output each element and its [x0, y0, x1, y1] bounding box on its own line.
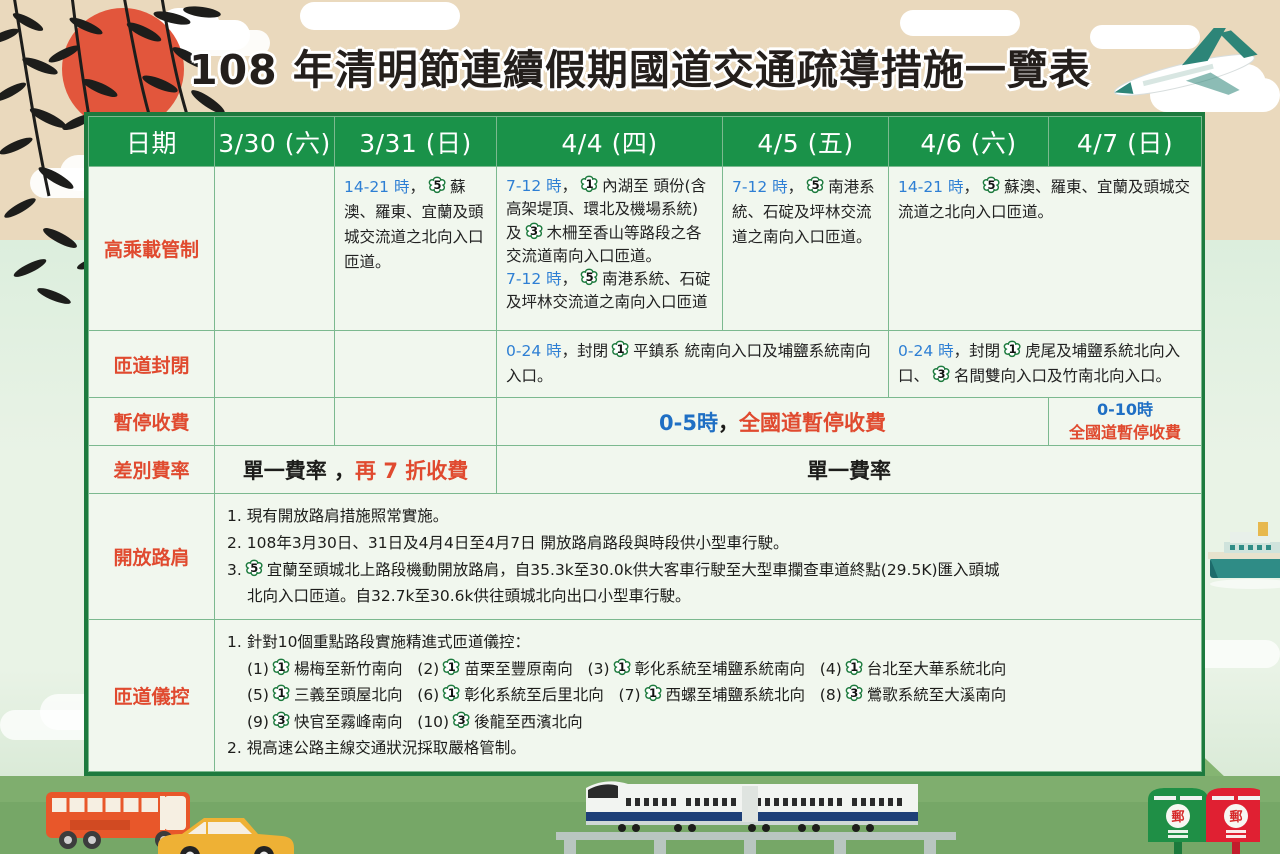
list-item: 1. 針對10個重點路段實施精進式匝道儀控：	[227, 629, 1191, 656]
time-range: 7-12 時	[506, 270, 562, 288]
highway-number: 3	[271, 711, 292, 731]
cell-dr-right: 單一費率	[497, 446, 1202, 494]
cell-text: 名間雙向入口及竹南北向入口。	[954, 367, 1171, 385]
cell-rc-0330	[215, 331, 335, 398]
highway-number: 1	[1002, 340, 1023, 360]
cloud-icon	[300, 2, 460, 30]
entry-text: 台北至大華系統北向	[867, 660, 1007, 678]
entry-index: (2)	[417, 660, 439, 678]
highway-number: 3	[451, 711, 472, 731]
metering-entry: (6)1彰化系統至后里北向	[417, 686, 603, 704]
cell-ts-middle: 0-5時，全國道暫停收費	[497, 398, 1049, 446]
separator: ，	[963, 178, 979, 196]
separator: ，	[562, 342, 578, 360]
table-row: 差別費率 單一費率 ，再 7 折收費 單一費率	[89, 446, 1202, 494]
highway-badge-icon: 1	[610, 340, 631, 360]
car-icon	[148, 806, 308, 854]
cell-ts-0407: 0-10時 全國道暫停收費	[1049, 398, 1202, 446]
entry-text: 西螺至埔鹽系統北向	[666, 686, 806, 704]
page-title: 108 年清明節連續假期國道交通疏導措施一覽表	[0, 36, 1280, 96]
highway-badge-icon: 3	[524, 222, 545, 242]
row-label-ramp-metering: 匝道儀控	[89, 619, 215, 771]
header-0404: 4/4 (四)	[497, 117, 723, 167]
highway-badge-icon: 5	[981, 176, 1002, 196]
metering-entry: (3)1彰化系統至埔鹽系統南向	[588, 660, 805, 678]
metering-entry: (8)3鶯歌系統至大溪南向	[820, 686, 1006, 704]
row-label-differential-rate: 差別費率	[89, 446, 215, 494]
cruise-ship-icon	[1196, 516, 1280, 596]
cloud-icon	[900, 10, 1020, 36]
time-range: 7-12 時	[506, 177, 562, 195]
metering-entry: (9)3快官至霧峰南向	[247, 713, 402, 731]
highway-badge-icon: 5	[805, 176, 826, 196]
list-number: 2.	[227, 534, 242, 552]
metering-entry: (2)1苗栗至豐原南向	[417, 660, 572, 678]
table-header-row: 日期 3/30 (六) 3/31 (日) 4/4 (四) 4/5 (五) 4/6…	[89, 117, 1202, 167]
cell-hov-0331: 14-21 時，5蘇澳、羅東、宜蘭及頭城交流道之北向入口匝道。	[335, 167, 497, 331]
highway-badge-icon: 5	[427, 176, 448, 196]
highway-number: 5	[981, 176, 1002, 196]
action-word: 封閉	[577, 342, 608, 360]
measures-table: 日期 3/30 (六) 3/31 (日) 4/4 (四) 4/5 (五) 4/6…	[84, 112, 1205, 776]
time-range: 0-24 時	[898, 342, 954, 360]
metering-entry: (5)1三義至頭屋北向	[247, 686, 402, 704]
cell-hov-0405: 7-12 時，5南港系 統、石碇及坪林交流道之南向入口匝道。	[723, 167, 889, 331]
highway-number: 1	[271, 658, 292, 678]
header-date: 日期	[89, 117, 215, 167]
highway-badge-icon: 3	[451, 711, 472, 731]
list-number: 2.	[227, 739, 242, 757]
entry-text: 鶯歌系統至大溪南向	[867, 686, 1007, 704]
header-0330: 3/30 (六)	[215, 117, 335, 167]
time-range: 14-21 時	[898, 178, 963, 196]
list-text: 針對10個重點路段實施精進式匝道儀控：	[247, 633, 530, 651]
list-item: 3.5宜蘭至頭城北上路段機動開放路肩，自35.3k至30.0k供大客車行駛至大型…	[227, 557, 1191, 610]
row-label-ramp-closure: 匝道封閉	[89, 331, 215, 398]
highway-badge-icon: 1	[441, 684, 462, 704]
entry-text: 苗栗至豐原南向	[464, 660, 573, 678]
svg-text:郵: 郵	[1171, 809, 1184, 825]
list-text: 視高速公路主線交通狀況採取嚴格管制。	[247, 739, 526, 757]
separator: ，	[409, 178, 425, 196]
metering-line: (9)3快官至霧峰南向 (10)3後龍至西濱北向	[227, 709, 1191, 736]
entry-index: (4)	[820, 660, 842, 678]
metering-line: (1)1楊梅至新竹南向 (2)1苗栗至豐原南向 (3)1彰化系統至埔鹽系統南向 …	[227, 656, 1191, 683]
highway-number: 3	[931, 365, 952, 385]
header-0406: 4/6 (六)	[889, 117, 1049, 167]
rate-text: 單一費率	[807, 459, 891, 483]
highway-badge-icon: 5	[244, 559, 265, 579]
svg-text:郵: 郵	[1229, 809, 1242, 825]
rate-discount: 再 7 折收費	[355, 459, 468, 483]
highway-badge-icon: 3	[844, 684, 865, 704]
list-item: 2. 108年3月30日、31日及4月4日至4月7日 開放路肩路段與時段供小型車…	[227, 530, 1191, 557]
highway-number: 3	[844, 684, 865, 704]
cell-shoulder-opening: 1. 現有開放路肩措施照常實施。 2. 108年3月30日、31日及4月4日至4…	[215, 494, 1202, 620]
header-0407: 4/7 (日)	[1049, 117, 1202, 167]
cell-ramp-metering: 1. 針對10個重點路段實施精進式匝道儀控： (1)1楊梅至新竹南向 (2)1苗…	[215, 619, 1202, 771]
table-row: 暫停收費 0-5時，全國道暫停收費 0-10時 全國道暫停收費	[89, 398, 1202, 446]
row-label-toll-suspension: 暫停收費	[89, 398, 215, 446]
entry-text: 楊梅至新竹南向	[294, 660, 403, 678]
highway-badge-icon: 1	[441, 658, 462, 678]
cell-rc-0406-0407: 0-24 時，封閉1虎尾及埔鹽系統北向入口、3名間雙向入口及竹南北向入口。	[889, 331, 1202, 398]
metering-entry: (7)1西螺至埔鹽系統北向	[619, 686, 805, 704]
cell-hov-0330	[215, 167, 335, 331]
list-text-cont: 北向入口匝道。自32.7k至30.6k供往頭城北向出口小型車行駛。	[227, 583, 1191, 610]
action-word: 封閉	[969, 342, 1000, 360]
highway-number: 1	[844, 658, 865, 678]
entry-index: (8)	[820, 686, 842, 704]
entry-text: 快官至霧峰南向	[294, 713, 403, 731]
list-item: 1. 現有開放路肩措施照常實施。	[227, 503, 1191, 530]
highway-badge-icon: 3	[931, 365, 952, 385]
entry-text: 三義至頭屋北向	[294, 686, 403, 704]
highway-number: 5	[427, 176, 448, 196]
row-label-shoulder-opening: 開放路肩	[89, 494, 215, 620]
highway-badge-icon: 1	[643, 684, 664, 704]
highway-number: 3	[524, 222, 545, 242]
cell-ts-0331	[335, 398, 497, 446]
highway-number: 1	[441, 658, 462, 678]
entry-index: (3)	[588, 660, 610, 678]
highway-number: 1	[579, 175, 600, 195]
metering-entry: (4)1台北至大華系統北向	[820, 660, 1006, 678]
separator: ，	[788, 178, 804, 196]
time-range: 14-21 時	[344, 178, 409, 196]
highway-number: 5	[805, 176, 826, 196]
highway-number: 1	[612, 658, 633, 678]
metering-entry: (1)1楊梅至新竹南向	[247, 660, 402, 678]
entry-text: 後龍至西濱北向	[474, 713, 583, 731]
mailbox-pair-icon: 郵 郵	[1140, 786, 1260, 854]
high-speed-train-icon	[556, 778, 976, 854]
cell-rc-0404-0405: 0-24 時，封閉1平鎮系 統南向入口及埔鹽系統南向入口。	[497, 331, 889, 398]
cell-hov-0406-0407: 14-21 時，5蘇澳、羅東、宜蘭及頭城交流道之北向入口匝道。	[889, 167, 1202, 331]
entry-index: (7)	[619, 686, 641, 704]
header-0331: 3/31 (日)	[335, 117, 497, 167]
highway-badge-icon: 5	[579, 268, 600, 288]
cell-dr-left: 單一費率 ，再 7 折收費	[215, 446, 497, 494]
highway-badge-icon: 1	[271, 658, 292, 678]
toll-time: 0-5時	[659, 411, 718, 435]
row-label-hov: 高乘載管制	[89, 167, 215, 331]
list-item: 2. 視高速公路主線交通狀況採取嚴格管制。	[227, 735, 1191, 762]
list-text: 現有開放路肩措施照常實施。	[247, 507, 449, 525]
metering-line: (5)1三義至頭屋北向 (6)1彰化系統至后里北向 (7)1西螺至埔鹽系統北向 …	[227, 682, 1191, 709]
highway-number: 5	[244, 559, 265, 579]
rate-text: 單一費率 ，	[243, 459, 355, 483]
entry-index: (1)	[247, 660, 269, 678]
highway-badge-icon: 1	[1002, 340, 1023, 360]
header-0405: 4/5 (五)	[723, 117, 889, 167]
entry-text: 彰化系統至后里北向	[464, 686, 604, 704]
table-row: 開放路肩 1. 現有開放路肩措施照常實施。 2. 108年3月30日、31日及4…	[89, 494, 1202, 620]
list-number: 1.	[227, 633, 242, 651]
list-text: 宜蘭至頭城北上路段機動開放路肩，自35.3k至30.0k供大客車行駛至大型車攔查…	[267, 561, 1000, 579]
highway-badge-icon: 1	[579, 175, 600, 195]
highway-number: 1	[610, 340, 631, 360]
highway-badge-icon: 3	[271, 711, 292, 731]
separator: ，	[718, 411, 739, 435]
entry-index: (10)	[417, 713, 449, 731]
highway-number: 1	[271, 684, 292, 704]
separator: ，	[562, 270, 578, 288]
highway-number: 1	[643, 684, 664, 704]
list-number: 1.	[227, 507, 242, 525]
time-range: 7-12 時	[732, 178, 788, 196]
cell-rc-0331	[335, 331, 497, 398]
highway-number: 1	[441, 684, 462, 704]
toll-text: 全國道暫停收費	[1050, 422, 1200, 444]
highway-badge-icon: 1	[271, 684, 292, 704]
time-range: 0-24 時	[506, 342, 562, 360]
table-row: 匝道儀控 1. 針對10個重點路段實施精進式匝道儀控： (1)1楊梅至新竹南向 …	[89, 619, 1202, 771]
entry-index: (5)	[247, 686, 269, 704]
separator: ，	[562, 177, 578, 195]
list-text: 108年3月30日、31日及4月4日至4月7日 開放路肩路段與時段供小型車行駛。	[247, 534, 789, 552]
entry-index: (9)	[247, 713, 269, 731]
metering-entry: (10)3後龍至西濱北向	[417, 713, 582, 731]
entry-text: 彰化系統至埔鹽系統南向	[635, 660, 806, 678]
cell-hov-0404: 7-12 時，1內湖至 頭份(含高架堤頂、環北及機場系統)及3木柵至香山等路段之…	[497, 167, 723, 331]
table-row: 高乘載管制 14-21 時，5蘇澳、羅東、宜蘭及頭城交流道之北向入口匝道。 7-…	[89, 167, 1202, 331]
toll-text: 全國道暫停收費	[739, 411, 886, 435]
list-number: 3.	[227, 561, 242, 579]
toll-time: 0-10時	[1050, 399, 1200, 421]
separator: ，	[954, 342, 970, 360]
cell-ts-0330	[215, 398, 335, 446]
table-row: 匝道封閉 0-24 時，封閉1平鎮系 統南向入口及埔鹽系統南向入口。 0-24 …	[89, 331, 1202, 398]
entry-index: (6)	[417, 686, 439, 704]
highway-badge-icon: 1	[844, 658, 865, 678]
highway-badge-icon: 1	[612, 658, 633, 678]
highway-number: 5	[579, 268, 600, 288]
